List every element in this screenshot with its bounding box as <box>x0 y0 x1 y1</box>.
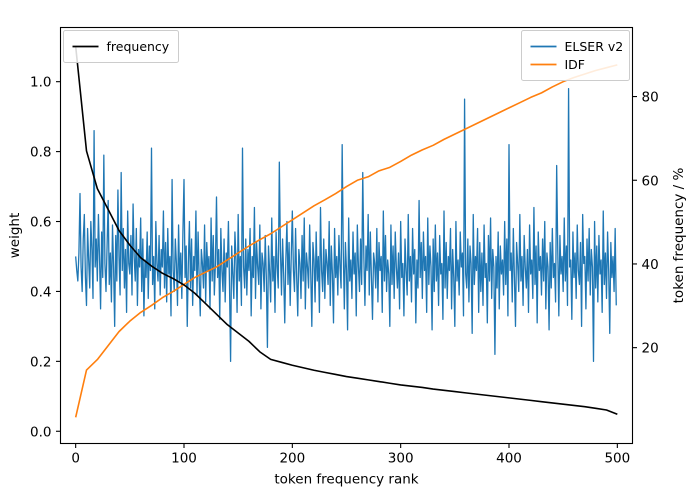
y-tick-label: 0.2 <box>30 354 51 370</box>
chart-figure: 01002003004005000.00.20.40.60.81.0204060… <box>0 0 700 496</box>
legend-label-elser-v2: ELSER v2 <box>565 39 624 54</box>
y2-tick-label: 60 <box>642 173 659 189</box>
chart-canvas: 01002003004005000.00.20.40.60.81.0204060… <box>0 0 700 496</box>
y2-tick-label: 20 <box>642 341 659 357</box>
y2-tick-label: 40 <box>642 257 659 273</box>
legend-upper-right[interactable]: ELSER v2IDF <box>522 31 630 81</box>
y2-tick-label: 80 <box>642 90 659 106</box>
y-tick-label: 0.0 <box>30 424 51 440</box>
y-tick-label: 0.4 <box>30 284 51 300</box>
x-tick-label: 100 <box>171 451 197 467</box>
x-axis-title: token frequency rank <box>274 472 418 488</box>
x-tick-label: 0 <box>71 451 80 467</box>
legend-label-frequency: frequency <box>107 39 170 54</box>
y-tick-label: 1.0 <box>30 75 51 91</box>
y-tick-label: 0.8 <box>30 145 51 161</box>
x-tick-label: 500 <box>604 451 630 467</box>
y-axis-title: weight <box>7 213 23 259</box>
legend-background <box>522 31 630 81</box>
legend-label-idf: IDF <box>565 57 586 72</box>
y2-axis-title: token frequency / % <box>671 167 687 303</box>
legend-upper-left[interactable]: frequency <box>64 31 179 63</box>
x-tick-label: 400 <box>496 451 522 467</box>
y-tick-label: 0.6 <box>30 215 51 231</box>
x-tick-label: 300 <box>388 451 414 467</box>
x-tick-label: 200 <box>279 451 305 467</box>
